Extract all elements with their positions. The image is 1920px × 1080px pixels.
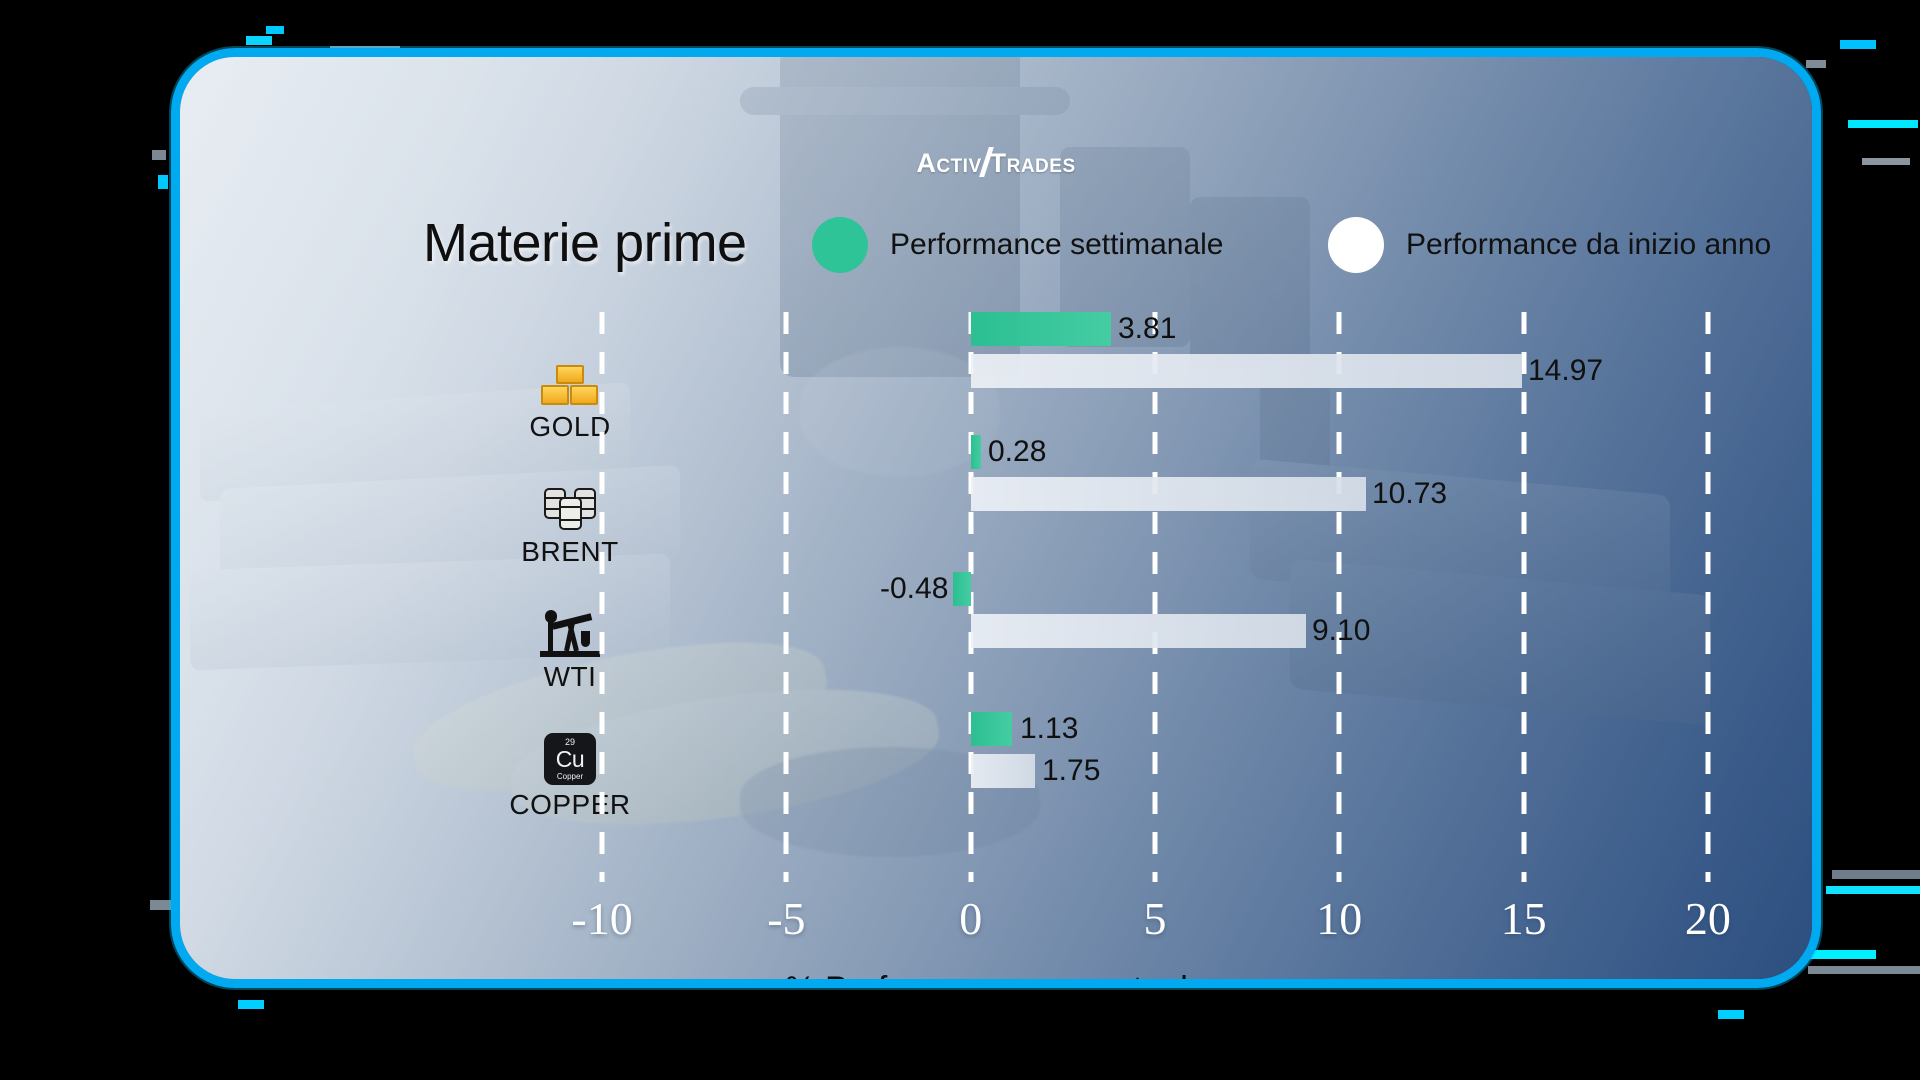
gridline-5 <box>1153 312 1158 882</box>
glitch-artifact <box>266 26 284 34</box>
x-tick: 5 <box>1144 892 1167 945</box>
bar-value-weekly-brent: 0.28 <box>988 435 1046 469</box>
x-tick: 0 <box>959 892 982 945</box>
bar-value-ytd-wti: 9.10 <box>1312 614 1370 648</box>
gridline-20 <box>1705 312 1710 882</box>
bar-ytd-brent <box>971 477 1367 511</box>
bar-weekly-gold <box>971 312 1111 346</box>
legend-swatch-ytd <box>1328 217 1384 273</box>
bar-weekly-brent <box>971 435 981 469</box>
x-tick: 10 <box>1316 892 1362 945</box>
chart-card: ActivTrades Materie prime Performance se… <box>171 48 1821 988</box>
legend-label-weekly: Performance settimanale <box>890 228 1224 262</box>
x-tick: 15 <box>1501 892 1547 945</box>
x-tick: 20 <box>1685 892 1731 945</box>
gridline-15 <box>1521 312 1526 882</box>
bar-weekly-copper <box>971 712 1013 746</box>
activtrades-logo: ActivTrades <box>180 147 1812 179</box>
page-title: Materie prime <box>423 212 747 274</box>
bar-ytd-wti <box>971 614 1306 648</box>
bar-value-weekly-copper: 1.13 <box>1020 712 1078 746</box>
legend-label-ytd: Performance da inizio anno <box>1406 228 1771 262</box>
glitch-artifact <box>1840 40 1876 49</box>
gridline--10 <box>600 312 605 882</box>
bar-ytd-copper <box>971 754 1036 788</box>
bar-value-weekly-wti: -0.48 <box>880 572 948 606</box>
glitch-artifact <box>246 36 272 45</box>
bar-value-ytd-gold: 14.97 <box>1528 354 1603 388</box>
logo-text-secondary: Trades <box>990 148 1076 178</box>
bar-value-ytd-copper: 1.75 <box>1042 754 1100 788</box>
x-tick: -10 <box>571 892 632 945</box>
glitch-artifact <box>1862 158 1910 165</box>
x-axis: -10 -5 0 5 10 15 20 <box>510 892 1800 952</box>
legend-swatch-weekly <box>812 217 868 273</box>
screenshot-root: ActivTrades Materie prime Performance se… <box>0 0 1920 1080</box>
bar-value-ytd-brent: 10.73 <box>1372 477 1447 511</box>
glitch-artifact <box>1808 966 1920 974</box>
plot-area: 3.81 14.97 0.28 10.73 -0.48 9.10 <box>510 312 1800 882</box>
glitch-artifact <box>1832 870 1920 879</box>
glitch-artifact <box>152 150 166 160</box>
legend-item-ytd: Performance da inizio anno <box>1328 217 1771 273</box>
gridline--5 <box>784 312 789 882</box>
bar-value-weekly-gold: 3.81 <box>1118 312 1176 346</box>
glitch-artifact <box>1826 886 1920 894</box>
gridline-10 <box>1337 312 1342 882</box>
x-tick: -5 <box>767 892 805 945</box>
bar-weekly-wti <box>953 572 971 606</box>
glitch-artifact <box>1848 120 1918 128</box>
x-axis-title: % Performance percentuale <box>180 970 1812 988</box>
glitch-artifact <box>1718 1010 1744 1019</box>
logo-text-primary: Activ <box>916 148 981 178</box>
bar-ytd-gold <box>971 354 1523 388</box>
glitch-artifact <box>158 175 168 189</box>
legend-item-weekly: Performance settimanale <box>812 217 1224 273</box>
glitch-artifact <box>238 1000 264 1009</box>
